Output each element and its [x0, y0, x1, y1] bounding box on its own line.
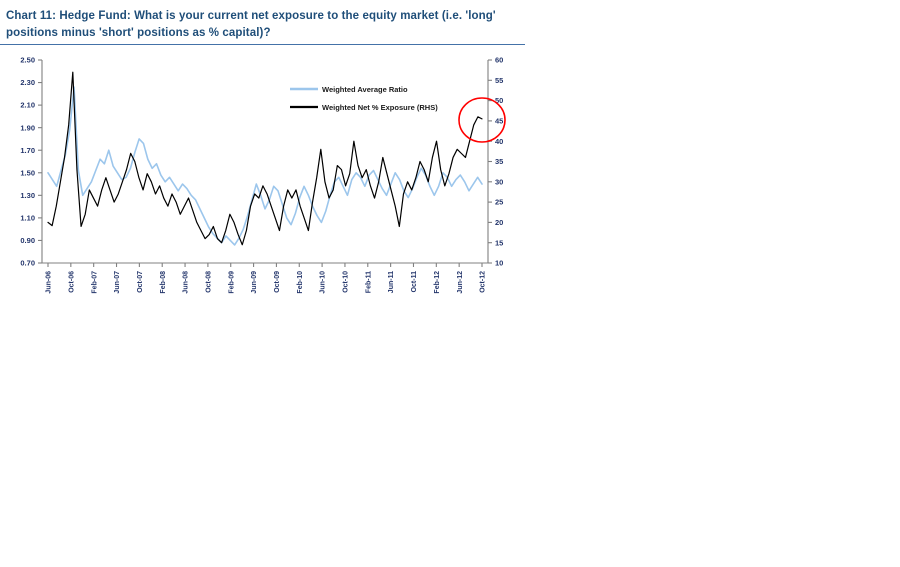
right-axis-tick-label: 55	[495, 76, 503, 85]
x-axis: Jun-06Oct-06Feb-07Jun-07Oct-07Feb-08Jun-…	[42, 263, 488, 294]
x-axis-tick-label: Oct-07	[137, 271, 144, 293]
chart-svg: 0.700.901.101.301.501.701.902.102.302.50…	[0, 0, 540, 310]
x-axis-tick-label: Feb-07	[91, 271, 98, 294]
right-axis-tick-label: 45	[495, 117, 503, 126]
x-axis-tick-label: Jun-11	[388, 271, 395, 293]
x-axis-tick-label: Oct-12	[480, 271, 487, 293]
right-axis-tick-label: 60	[495, 56, 503, 65]
left-axis-tick-label: 1.90	[20, 123, 35, 132]
legend-label: Weighted Average Ratio	[322, 85, 408, 94]
right-axis-tick-label: 15	[495, 238, 503, 247]
series-lines	[48, 72, 482, 245]
right-axis-tick-label: 50	[495, 96, 503, 105]
right-axis: 1015202530354045505560	[488, 56, 503, 268]
right-axis-tick-label: 20	[495, 218, 503, 227]
x-axis-tick-label: Oct-11	[411, 271, 418, 293]
left-axis-tick-label: 1.10	[20, 213, 35, 222]
plot-area: 0.700.901.101.301.501.701.902.102.302.50…	[0, 0, 540, 310]
left-axis-tick-label: 2.10	[20, 101, 35, 110]
x-axis-tick-label: Oct-09	[274, 271, 281, 293]
right-axis-tick-label: 25	[495, 198, 503, 207]
x-axis-tick-label: Feb-10	[297, 271, 304, 294]
series-line-weighted-net-exposure	[48, 72, 482, 245]
x-axis-tick-label: Feb-08	[160, 271, 167, 294]
x-axis-tick-label: Jun-07	[114, 271, 121, 294]
x-axis-tick-label: Jun-06	[46, 271, 53, 294]
left-axis-tick-label: 2.30	[20, 78, 35, 87]
right-axis-tick-label: 30	[495, 177, 503, 186]
chart-legend: Weighted Average RatioWeighted Net % Exp…	[290, 85, 438, 112]
x-axis-tick-label: Jun-10	[320, 271, 327, 294]
x-axis-tick-label: Feb-11	[365, 271, 372, 293]
x-axis-tick-label: Jun-09	[251, 271, 258, 294]
left-axis-tick-label: 0.90	[20, 236, 35, 245]
chart-figure: Chart 11: Hedge Fund: What is your curre…	[0, 0, 900, 567]
x-axis-tick-label: Oct-10	[343, 271, 350, 293]
x-axis-tick-label: Feb-12	[434, 271, 441, 294]
left-axis-tick-label: 1.70	[20, 146, 35, 155]
x-axis-tick-label: Oct-08	[205, 271, 212, 293]
left-axis-tick-label: 1.50	[20, 168, 35, 177]
x-axis-tick-label: Oct-06	[68, 271, 75, 293]
left-axis-tick-label: 1.30	[20, 191, 35, 200]
right-axis-tick-label: 35	[495, 157, 503, 166]
left-axis-tick-label: 2.50	[20, 56, 35, 65]
x-axis-tick-label: Feb-09	[228, 271, 235, 294]
x-axis-tick-label: Jun-08	[183, 271, 190, 294]
left-axis-tick-label: 0.70	[20, 259, 35, 268]
left-axis: 0.700.901.101.301.501.701.902.102.302.50	[20, 56, 42, 268]
x-axis-tick-label: Jun-12	[457, 271, 464, 294]
right-axis-tick-label: 10	[495, 259, 503, 268]
legend-label: Weighted Net % Exposure (RHS)	[322, 103, 438, 112]
